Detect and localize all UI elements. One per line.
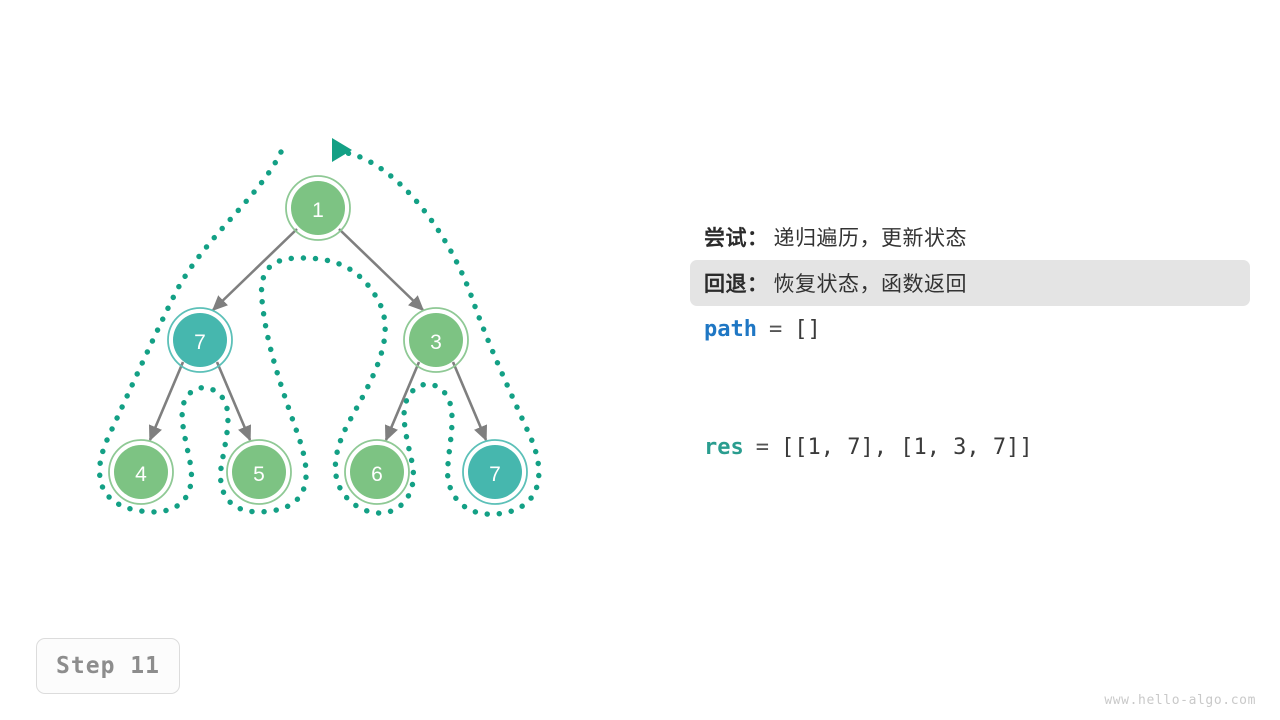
node-label: 4 (135, 463, 147, 486)
code-equals-res: = (756, 435, 769, 460)
code-row-path: path = [] (690, 306, 1250, 352)
node-label: 3 (430, 331, 442, 354)
edge-n7a-n5 (217, 362, 250, 440)
tree-node-n4[interactable]: 4 (109, 440, 173, 504)
annotation-key-try: 尝试： (704, 222, 769, 252)
annotation-value-backtrack: 恢复状态，函数返回 (774, 268, 968, 298)
step-badge: Step 11 (36, 638, 180, 694)
code-row-res: res = [[1, 7], [1, 3, 7]] (690, 424, 1250, 470)
binary-tree-diagram: 1 7 3 4 5 6 7 (0, 0, 660, 600)
node-label: 6 (371, 463, 383, 486)
annotation-row-try: 尝试： 递归遍历，更新状态 (690, 214, 1250, 260)
tree-node-n7a[interactable]: 7 (168, 308, 232, 372)
annotation-panel: 尝试： 递归遍历，更新状态 回退： 恢复状态，函数返回 path = [] re… (690, 214, 1250, 470)
annotation-row-backtrack: 回退： 恢复状态，函数返回 (690, 260, 1250, 306)
code-equals-path: = (769, 317, 782, 342)
node-label: 7 (194, 331, 206, 354)
node-label: 7 (489, 463, 501, 486)
node-label: 1 (312, 199, 324, 222)
code-value-path: [] (794, 317, 821, 342)
code-spacer (690, 352, 1250, 424)
code-variable-res: res (704, 435, 744, 460)
edge-n3-n7b (453, 362, 486, 440)
annotation-key-backtrack: 回退： (704, 268, 769, 298)
node-label: 5 (253, 463, 265, 486)
watermark: www.hello-algo.com (1104, 693, 1256, 708)
tree-node-n6[interactable]: 6 (345, 440, 409, 504)
tree-node-n5[interactable]: 5 (227, 440, 291, 504)
edge-n7a-n4 (150, 362, 183, 440)
tree-node-n3[interactable]: 3 (404, 308, 468, 372)
code-variable-path: path (704, 317, 757, 342)
tree-node-n7b[interactable]: 7 (463, 440, 527, 504)
code-value-res: [[1, 7], [1, 3, 7]] (781, 435, 1033, 460)
edge-root-n7a (213, 229, 297, 310)
edge-n3-n6 (386, 362, 419, 440)
tree-node-root[interactable]: 1 (286, 176, 350, 240)
traversal-cursor-icon (332, 138, 352, 162)
annotation-value-try: 递归遍历，更新状态 (774, 222, 968, 252)
